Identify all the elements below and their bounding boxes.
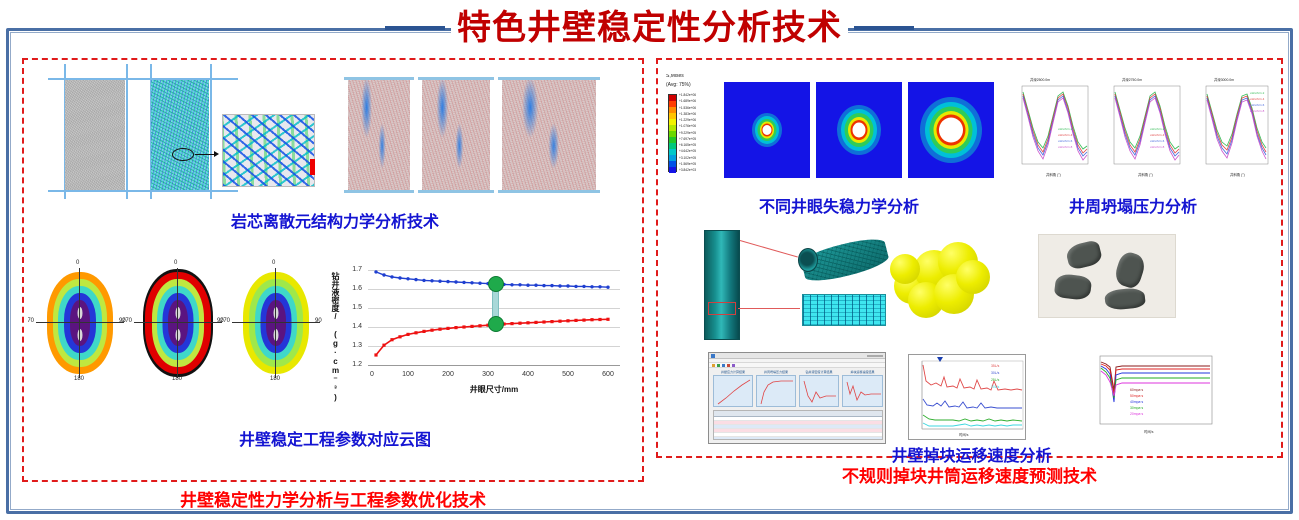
chart-xlabel: 井眼尺寸/mm	[424, 384, 564, 395]
card-title: 井周坍塌压力结果	[756, 370, 796, 374]
legend-value: +3.102e+05	[679, 157, 696, 160]
window-toolbar[interactable]	[709, 363, 885, 368]
legend-value: +7.697e+05	[679, 138, 696, 141]
chart-ylabel: 钻井液密度/ (g·cm⁻³)	[330, 272, 341, 368]
polar-label-270: 270	[28, 318, 34, 324]
xtick-label: 400	[516, 371, 540, 378]
ytick-label: 1.6	[342, 285, 362, 292]
leader-line-top	[740, 240, 798, 257]
polar-label-270: 270	[122, 318, 132, 324]
wellbore-hole	[763, 125, 772, 135]
legend-value: +1.076e+06	[679, 125, 696, 128]
toolbar-icon[interactable]	[727, 364, 730, 367]
table-row[interactable]	[714, 437, 882, 440]
mud-density-chart: 钻井液密度/ (g·cm⁻³) 1.7 1.6 1.5 1.4 1.3 1.2	[324, 258, 642, 406]
wellbore-hole	[853, 123, 866, 138]
sub-caption-collapse-pressure: 井周坍塌压力分析	[998, 193, 1268, 217]
chart-plot-area	[368, 270, 620, 368]
toolbar-icon[interactable]	[722, 364, 725, 367]
toolbar-icon[interactable]	[717, 364, 720, 367]
cuttings-velocity-chart: 35L/s 30L/s 25L/s 20L/s 时间/s	[908, 354, 1026, 440]
polar-label-0: 0	[272, 260, 275, 266]
results-data-table[interactable]	[713, 410, 883, 440]
polar-axis-vertical	[177, 268, 178, 378]
specimen-dem	[151, 80, 209, 190]
viscosity-chart-svg	[1088, 350, 1220, 440]
legend-value: +1.689e+06	[679, 100, 696, 103]
wellbore-cylinder	[704, 230, 740, 340]
mini-chart-xlabel: 井斜角 (°)	[1138, 172, 1153, 177]
velocity-legend-item: 20L/s	[991, 385, 999, 390]
card-title: 井壁应力计算结果	[713, 370, 753, 374]
legend-title: S,Mises	[666, 74, 684, 79]
analysis-software-window[interactable]: 井壁应力计算结果 井周坍塌压力结果 钻井液密度计算结果 掉块运移速度结果	[708, 352, 886, 444]
legend-value: +1.569e+05	[679, 163, 696, 166]
polar-cloud-figure: 0 90 180 270 0 90 180 270	[28, 258, 328, 388]
collapse-chart-3: 井深3000.0m σH/σh=1.2 σH/σh=1.4 σH/σh=1.6 …	[1190, 76, 1278, 182]
xtick-label: 200	[436, 371, 460, 378]
mini-legend-item: σH/σh=1.8	[1150, 146, 1164, 150]
viscosity-legend-item: 30mpa·s	[1130, 406, 1143, 411]
dem-specimen-figure	[32, 64, 332, 204]
toolbar-icon[interactable]	[732, 364, 735, 367]
specimen-intact	[65, 80, 125, 190]
rock-fragment	[1065, 239, 1104, 271]
toolbar-icon[interactable]	[712, 364, 715, 367]
rock-cuttings-photo	[1038, 234, 1176, 318]
guide-line	[210, 64, 212, 199]
polar-label-0: 0	[174, 260, 177, 266]
panel-left: 岩芯离散元结构力学分析技术 0 90 180 270	[22, 58, 644, 482]
caption-left-panel: 井壁稳定性力学分析与工程参数优化技术	[22, 486, 644, 511]
legend-value: +6.165e+05	[679, 144, 696, 147]
velocity-legend-item: 30L/s	[991, 371, 999, 376]
mesh-detail-box	[708, 302, 736, 315]
mini-chart-xlabel: 井斜角 (°)	[1046, 172, 1061, 177]
polar-label-180: 180	[74, 376, 84, 382]
viscosity-chart-xlabel: 时间/s	[1144, 430, 1153, 435]
polar-axis-horizontal	[36, 322, 124, 323]
panel-right: S,Mises (Avg: 75%) +1.842e+06 +1.689e+06	[656, 58, 1283, 458]
ytick-label: 1.7	[342, 266, 362, 273]
polar-plot-3: 0 90 180 270	[230, 264, 322, 382]
highlight-point-lower	[488, 316, 504, 332]
mini-legend-item: σH/σh=1.6	[1058, 140, 1072, 144]
polar-plot-2: 0 90 180 270	[132, 264, 224, 382]
polar-plot-1: 0 90 180 270	[34, 264, 126, 382]
sub-caption-cloud: 井壁稳定工程参数对应云图	[24, 426, 646, 450]
mini-legend-item: σH/σh=1.2	[1150, 128, 1164, 132]
polar-label-90: 90	[315, 318, 322, 324]
legend-value-list: +1.842e+06 +1.689e+06 +1.536e+06 +1.383e…	[679, 94, 696, 139]
legend-value: +1.383e+06	[679, 113, 696, 116]
mini-chart-svg	[1098, 76, 1186, 182]
mini-chart-svg	[1190, 76, 1278, 182]
fractured-core-figure	[342, 64, 638, 204]
mini-legend-item: σH/σh=1.2	[1250, 92, 1264, 96]
polar-axis-vertical	[275, 268, 276, 378]
polar-axis-horizontal	[232, 322, 320, 323]
callout-arrow-head	[214, 151, 219, 157]
wellbore-mesh-figure	[688, 226, 898, 344]
collapse-chart-2: 井深2750.0m σH/σh=1.2 σH/σh=1.4 σH/σh=1.6 …	[1098, 76, 1186, 182]
mini-legend-item: σH/σh=1.4	[1250, 98, 1264, 102]
guide-line	[48, 190, 238, 192]
polar-label-180: 180	[270, 376, 280, 382]
xtick-label: 500	[556, 371, 580, 378]
zoom-region-marker	[172, 148, 194, 161]
abaqus-contour-medium	[816, 82, 902, 178]
mesh-grid-detail	[802, 294, 886, 326]
core-sample-1	[348, 80, 410, 190]
mini-chart-xlabel: 井斜角 (°)	[1230, 172, 1245, 177]
window-titlebar[interactable]	[709, 353, 885, 359]
core-sample-2	[422, 80, 490, 190]
mini-legend-item: σH/σh=1.2	[1058, 128, 1072, 132]
card-chart-svg	[843, 376, 884, 408]
core-cap-top	[418, 77, 494, 80]
abaqus-contour-large	[908, 82, 994, 178]
velocity-chart-svg	[909, 355, 1027, 441]
mini-legend-item: σH/σh=1.6	[1250, 104, 1264, 108]
ytick-label: 1.3	[342, 342, 362, 349]
mini-legend-item: σH/σh=1.4	[1058, 134, 1072, 138]
viscosity-legend-item: 40mpa·s	[1130, 400, 1143, 405]
window-controls[interactable]	[867, 355, 883, 357]
irregular-cutting-3d-model	[884, 230, 1010, 342]
force-chain-highlight	[310, 159, 315, 175]
mini-legend-item: σH/σh=1.8	[1250, 110, 1264, 114]
legend-value: +1.842e+06	[679, 94, 696, 97]
legend-value: +9.229e+05	[679, 132, 696, 135]
velocity-legend-item: 35L/s	[991, 364, 999, 369]
mini-legend-item: σH/σh=1.8	[1058, 146, 1072, 150]
core-cap-bottom	[498, 190, 600, 193]
core-cap-bottom	[418, 190, 494, 193]
leader-line-bottom	[738, 308, 800, 309]
card-chart-svg	[714, 376, 754, 408]
polar-label-180: 180	[172, 376, 182, 382]
wellbore-hole	[939, 118, 963, 143]
velocity-chart-xlabel: 时间/s	[959, 433, 968, 438]
viscosity-legend-item: 20mpa·s	[1130, 412, 1143, 417]
cutting-sphere	[890, 254, 920, 284]
rock-fragment	[1104, 287, 1146, 311]
collapse-chart-1: 井深2500.0m σH/σh=1.2 σH/σh=1.4 σH/σh=1.6 …	[1006, 76, 1094, 182]
legend-value: +4.642e+05	[679, 150, 696, 153]
page-title: 特色井壁稳定性分析技术	[0, 0, 1299, 56]
card-chart-svg	[757, 376, 797, 408]
result-chart-card-2	[756, 375, 796, 407]
polar-label-270: 270	[220, 318, 230, 324]
app-icon	[711, 354, 715, 358]
guide-line	[126, 64, 128, 199]
smises-legend: S,Mises (Avg: 75%) +1.842e+06 +1.689e+06	[666, 74, 720, 180]
xtick-label: 100	[396, 371, 420, 378]
abaqus-contour-small	[724, 82, 810, 178]
slide-root: 特色井壁稳定性分析技术	[0, 0, 1299, 520]
velocity-legend-item: 25L/s	[991, 378, 999, 383]
pipe-opening	[798, 248, 818, 272]
viscosity-legend-item: 60mpa·s	[1130, 388, 1143, 393]
mini-legend-item: σH/σh=1.6	[1150, 140, 1164, 144]
core-cap-top	[498, 77, 600, 80]
xtick-label: 0	[360, 371, 384, 378]
rock-fragment	[1054, 273, 1093, 301]
card-title: 钻井液密度计算结果	[799, 370, 839, 374]
title-rule-right	[854, 26, 914, 30]
title-text: 特色井壁稳定性分析技术	[451, 11, 848, 45]
dem-contact-network-zoom	[222, 114, 315, 187]
legend-value: +1.536e+06	[679, 107, 696, 110]
card-title: 掉块运移速度结果	[842, 370, 883, 374]
ytick-label: 1.2	[342, 361, 362, 368]
polar-label-0: 0	[76, 260, 79, 266]
sub-caption-wellbore-failure: 不同井眼失稳力学分析	[694, 193, 984, 217]
title-rule-left	[385, 26, 445, 30]
core-cap-bottom	[344, 190, 414, 193]
legend-value: +1.229e+06	[679, 119, 696, 122]
core-sample-3	[502, 80, 596, 190]
legend-colorbar	[668, 94, 677, 172]
highlight-point-upper	[488, 276, 504, 292]
result-chart-card-3	[799, 375, 839, 407]
xtick-label: 600	[596, 371, 620, 378]
mini-chart-svg	[1006, 76, 1094, 182]
legend-value: +3.842e+03	[679, 169, 696, 172]
card-chart-svg	[800, 376, 840, 408]
caption-right-panel: 不规则掉块井筒运移速度预测技术	[656, 462, 1283, 487]
mini-legend-item: σH/σh=1.4	[1150, 134, 1164, 138]
rock-fragment	[1112, 250, 1147, 290]
polar-axis-vertical	[79, 268, 80, 378]
sub-caption-dem: 岩芯离散元结构力学分析技术	[24, 208, 646, 232]
callout-arrow-line	[195, 154, 215, 155]
legend-subtitle: (Avg: 75%)	[666, 83, 691, 88]
xtick-label: 300	[476, 371, 500, 378]
core-cap-top	[344, 77, 414, 80]
cutting-sphere	[956, 260, 990, 294]
viscosity-legend-item: 50mpa·s	[1130, 394, 1143, 399]
ytick-label: 1.4	[342, 323, 362, 330]
polar-axis-horizontal	[134, 322, 222, 323]
viscosity-velocity-chart: 60mpa·s 50mpa·s 40mpa·s 30mpa·s 20mpa·s …	[1088, 350, 1220, 440]
ytick-label: 1.5	[342, 304, 362, 311]
result-chart-card-1	[713, 375, 753, 407]
result-chart-card-4	[842, 375, 883, 407]
